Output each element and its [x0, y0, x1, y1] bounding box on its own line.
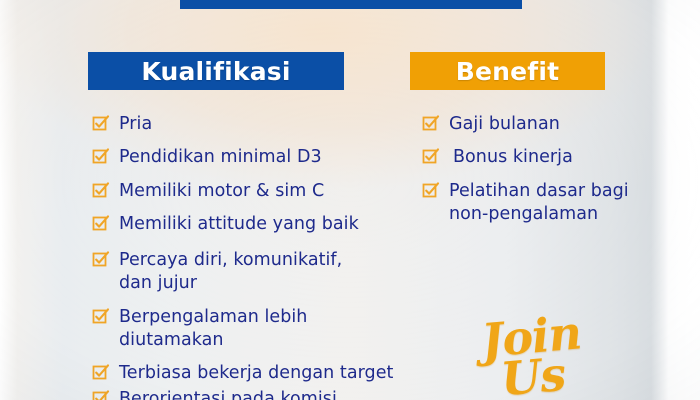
list-item-label: Pendidikan minimal D3	[119, 146, 322, 169]
checkbox-checked-icon	[92, 309, 107, 324]
section-heading-kualifikasi: Kualifikasi	[88, 52, 344, 90]
checkbox-checked-icon	[92, 116, 107, 131]
checkbox-checked-icon	[422, 183, 437, 198]
list-item-label: Pria	[119, 113, 152, 136]
checkbox-checked-icon	[422, 116, 437, 131]
checkbox-checked-icon	[92, 216, 107, 231]
list-item: Pendidikan minimal D3	[92, 146, 452, 169]
benefit-list: Gaji bulanan Bonus kinerja Pelatihan das…	[422, 113, 680, 236]
list-item-label: Pelatihan dasar bagi non-pengalaman	[449, 180, 629, 227]
list-item: Pelatihan dasar bagi non-pengalaman	[422, 180, 680, 227]
list-item-label: Berorientasi pada komisi	[119, 388, 337, 400]
list-item: Berorientasi pada komisi	[92, 388, 452, 400]
list-item: Berpengalaman lebih diutamakan	[92, 306, 452, 353]
checkbox-checked-icon	[92, 149, 107, 164]
checkbox-checked-icon	[92, 391, 107, 400]
list-item: Terbiasa bekerja dengan target	[92, 362, 452, 385]
list-item-label: Memiliki attitude yang baik	[119, 213, 359, 236]
list-item: Memiliki attitude yang baik	[92, 213, 452, 236]
list-item-label: Bonus kinerja	[449, 146, 573, 169]
list-item-label: Percaya diri, komunikatif, dan jujur	[119, 249, 342, 296]
list-item: Memiliki motor & sim C	[92, 180, 452, 203]
kualifikasi-list: Pria Pendidikan minimal D3 Memiliki moto…	[92, 113, 452, 400]
checkbox-checked-icon	[92, 252, 107, 267]
checkbox-checked-icon	[92, 183, 107, 198]
join-us-script-decoration: Join Us	[480, 313, 586, 400]
list-item-label: Berpengalaman lebih diutamakan	[119, 306, 307, 353]
checkbox-checked-icon	[422, 149, 437, 164]
list-item: Bonus kinerja	[422, 146, 680, 169]
checkbox-checked-icon	[92, 365, 107, 380]
list-item-label: Memiliki motor & sim C	[119, 180, 324, 203]
list-item: Percaya diri, komunikatif, dan jujur	[92, 249, 452, 296]
job-vacancy-poster: Kualifikasi Benefit Pria Pendidikan mini…	[0, 0, 700, 400]
list-item-label: Terbiasa bekerja dengan target	[119, 362, 393, 385]
top-blue-banner-strip	[180, 0, 522, 9]
list-item: Pria	[92, 113, 452, 136]
list-item: Gaji bulanan	[422, 113, 680, 136]
list-item-label: Gaji bulanan	[449, 113, 560, 136]
section-heading-benefit: Benefit	[410, 52, 605, 90]
